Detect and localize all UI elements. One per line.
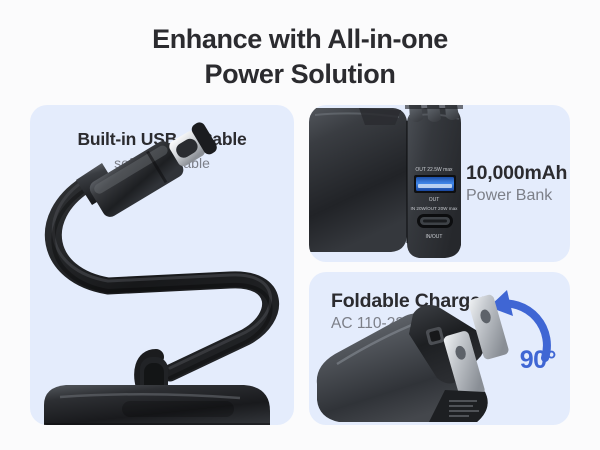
feature-panel-usb-c-cable: Built-in USB-C Cable soft yet durable bbox=[30, 105, 294, 425]
usb-a-port-label: OUT 22.5W max bbox=[415, 167, 453, 173]
power-bank-subtitle: Power Bank bbox=[466, 186, 570, 207]
charger-subtitle: AC 110-220V bbox=[331, 314, 551, 335]
page-title-line-1: Enhance with All-in-one bbox=[0, 22, 600, 57]
feature-panel-power-bank: 10,000mAh Power Bank bbox=[309, 105, 570, 262]
svg-text:IN/OUT: IN/OUT bbox=[426, 234, 443, 240]
page-title: Enhance with All-in-one Power Solution bbox=[0, 22, 600, 91]
power-bank-capacity: 10,000mAh bbox=[466, 162, 570, 185]
cable-subtitle: soft yet durable bbox=[30, 153, 294, 173]
rotation-angle-badge: 90° bbox=[520, 346, 556, 375]
feature-panel-foldable-charger: Foldable Charger AC 110-220V 90° bbox=[309, 272, 570, 425]
usb-c-port-label: IN 20W/OUT 20W max bbox=[411, 206, 459, 211]
cable-text-block: Built-in USB-C Cable soft yet durable bbox=[30, 129, 294, 173]
power-bank-text-block: 10,000mAh Power Bank bbox=[466, 162, 570, 207]
cable-title: Built-in USB-C Cable bbox=[30, 129, 294, 151]
charger-text-block: Foldable Charger AC 110-220V bbox=[331, 290, 551, 335]
page-title-line-2: Power Solution bbox=[0, 57, 600, 92]
charger-title: Foldable Charger bbox=[331, 290, 551, 313]
svg-text:OUT: OUT bbox=[429, 197, 440, 203]
